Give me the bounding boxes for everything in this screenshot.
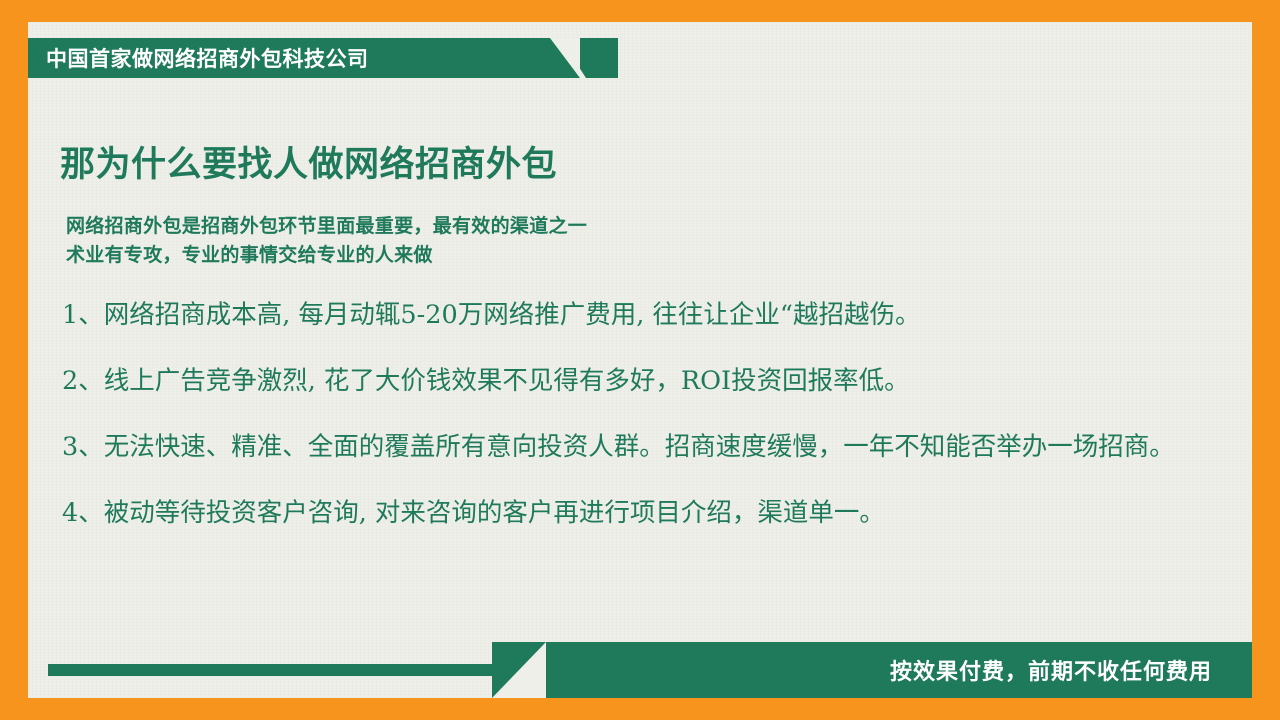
list-item: 3、无法快速、精准、全面的覆盖所有意向投资人群。招商速度缓慢，一年不知能否举办一… [62,428,1192,466]
footer-label: 按效果付费，前期不收任何费用 [890,642,1212,698]
header-ribbon: 中国首家做网络招商外包科技公司 [28,38,580,78]
bullet-list: 1、网络招商成本高, 每月动辄5-20万网络推广费用, 往往让企业“越招越伤。 … [62,296,1192,532]
header-ribbon-label: 中国首家做网络招商外包科技公司 [28,43,369,73]
footer-bar: 按效果付费，前期不收任何费用 [28,642,1252,698]
list-item: 4、被动等待投资客户咨询, 对来咨询的客户再进行项目介绍，渠道单一。 [62,494,1192,532]
page-subtitle: 网络招商外包是招商外包环节里面最重要，最有效的渠道之一 术业有专攻，专业的事情交… [66,212,587,270]
slide-root: 中国首家做网络招商外包科技公司 那为什么要找人做网络招商外包 网络招商外包是招商… [0,0,1280,720]
footer-banner-notch [492,642,546,698]
page-title: 那为什么要找人做网络招商外包 [60,136,557,187]
page-subtitle-line-1: 网络招商外包是招商外包环节里面最重要，最有效的渠道之一 [66,212,587,241]
header-ribbon-notch [550,38,580,78]
list-item: 1、网络招商成本高, 每月动辄5-20万网络推广费用, 往往让企业“越招越伤。 [62,296,1192,334]
page-subtitle-line-2: 术业有专攻，专业的事情交给专业的人来做 [66,241,587,270]
list-item: 2、线上广告竞争激烈, 花了大价钱效果不见得有多好，ROI投资回报率低。 [62,362,1192,400]
